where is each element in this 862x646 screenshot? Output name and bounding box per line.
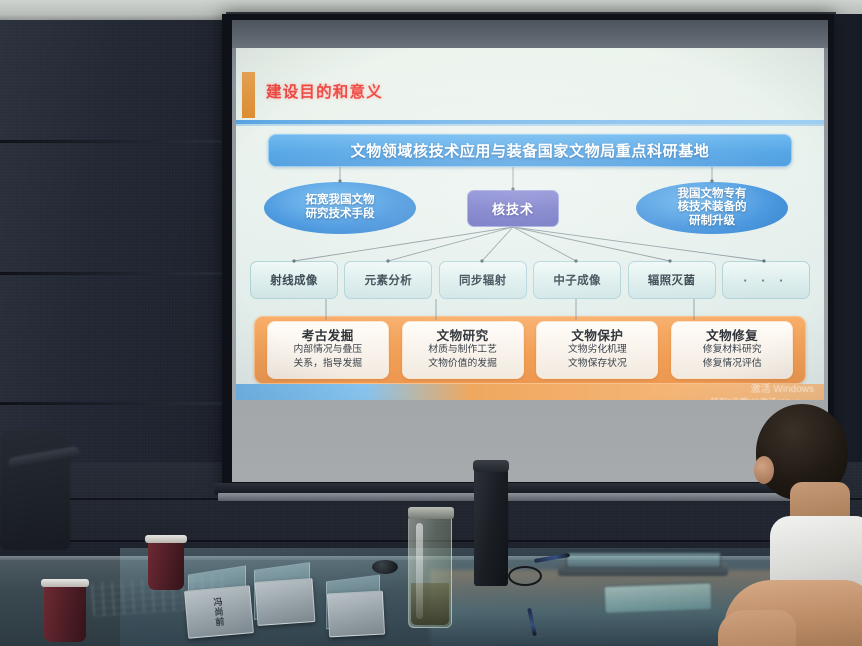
root-node[interactable]: 文物领域核技术应用与装备国家文物局重点科研基地	[268, 134, 792, 167]
app-card-title: 文物保护	[571, 330, 623, 344]
app-card-sub-2: 关系，指导发掘	[294, 358, 363, 371]
node-nuclear-technology[interactable]: 核技术	[467, 190, 559, 227]
node-dedicated-equipment-upgrade[interactable]: 我国文物专有 核技术装备的 研制升级	[636, 182, 788, 234]
app-card-title: 文物研究	[437, 330, 489, 344]
conference-microphone[interactable]	[372, 560, 398, 574]
app-card-sub-1: 修复材料研究	[703, 344, 762, 357]
app-card-archaeological-excavation[interactable]: 考古发掘 内部情况与叠压 关系，指导发掘	[267, 321, 389, 379]
header-accent-bar	[242, 72, 255, 118]
app-card-title: 考古发掘	[302, 330, 354, 344]
app-card-sub-1: 内部情况与叠压	[294, 344, 363, 357]
watermark-line-2: 转到"设置"以激活 Windows	[710, 397, 814, 401]
wall-seam	[0, 140, 232, 143]
tablet-device[interactable]	[604, 582, 713, 614]
slide-title: 建设目的和意义	[266, 80, 383, 102]
name-placard[interactable]	[255, 578, 316, 626]
tech-box-neutron-imaging[interactable]: 中子成像	[533, 261, 621, 299]
screen-top-shade	[232, 20, 828, 48]
tech-box-irradiation-sterilization[interactable]: 辐照灭菌	[628, 261, 716, 299]
cable-coil	[508, 566, 542, 586]
app-card-sub-2: 文物保存状况	[568, 358, 627, 371]
jar-lid	[408, 507, 454, 519]
windows-activation-watermark: 激活 Windows 转到"设置"以激活 Windows	[710, 384, 814, 400]
node-line-3: 研制升级	[678, 215, 747, 229]
tech-box-xray-imaging[interactable]: 射线成像	[250, 261, 338, 299]
node-line-2: 研究技术手段	[306, 208, 375, 222]
wall-texture	[0, 20, 232, 490]
app-card-relic-restoration[interactable]: 文物修复 修复材料研究 修复情况评估	[671, 321, 793, 379]
thermos-bottle[interactable]	[474, 468, 508, 586]
person-ear	[754, 456, 774, 484]
paper-cup[interactable]	[44, 584, 86, 642]
wall-left-panels	[0, 20, 232, 490]
app-card-title: 文物修复	[706, 330, 758, 344]
application-row: 考古发掘 内部情况与叠压 关系，指导发掘 文物研究 材质与制作工艺 文物价值的发…	[254, 320, 806, 380]
app-card-sub-1: 文物劣化机理	[568, 344, 627, 357]
person-hand	[718, 610, 796, 646]
glass-tea-jar[interactable]	[408, 516, 452, 628]
thermos-cap	[473, 460, 509, 472]
seated-person	[742, 404, 862, 646]
node-broaden-research-methods[interactable]: 拓宽我国文物 研究技术手段	[264, 182, 416, 234]
technology-row: 射线成像 元素分析 同步辐射 中子成像 辐照灭菌 · · ·	[250, 261, 810, 299]
presentation-slide: 建设目的和意义	[236, 48, 824, 400]
app-card-sub-2: 文物价值的发掘	[428, 358, 497, 371]
tech-box-synchrotron-radiation[interactable]: 同步辐射	[439, 261, 527, 299]
watermark-line-1: 激活 Windows	[710, 384, 814, 397]
tech-box-element-analysis[interactable]: 元素分析	[344, 261, 432, 299]
glass-highlight	[416, 523, 423, 619]
name-placard[interactable]	[327, 591, 385, 638]
app-card-sub-1: 材质与制作工艺	[428, 344, 497, 357]
screenshot-root: 建设目的和意义	[0, 0, 862, 646]
wall-seam	[0, 272, 232, 275]
header-rule-secondary	[236, 124, 824, 126]
node-line-1: 拓宽我国文物	[306, 194, 375, 208]
name-placard[interactable]: 冯尚前	[184, 585, 254, 639]
paper-cup[interactable]	[148, 540, 184, 590]
node-line-1: 我国文物专有	[678, 188, 747, 202]
placard-name: 冯尚前	[211, 596, 227, 627]
node-line-2: 核技术装备的	[678, 201, 747, 215]
app-card-sub-2: 修复情况评估	[703, 358, 762, 371]
app-card-relic-research[interactable]: 文物研究 材质与制作工艺 文物价值的发掘	[402, 321, 524, 379]
tech-box-more-ellipsis[interactable]: · · ·	[722, 261, 810, 299]
app-card-relic-protection[interactable]: 文物保护 文物劣化机理 文物保存状况	[536, 321, 658, 379]
wall-seam	[0, 402, 232, 405]
monitor-panel	[566, 552, 721, 568]
